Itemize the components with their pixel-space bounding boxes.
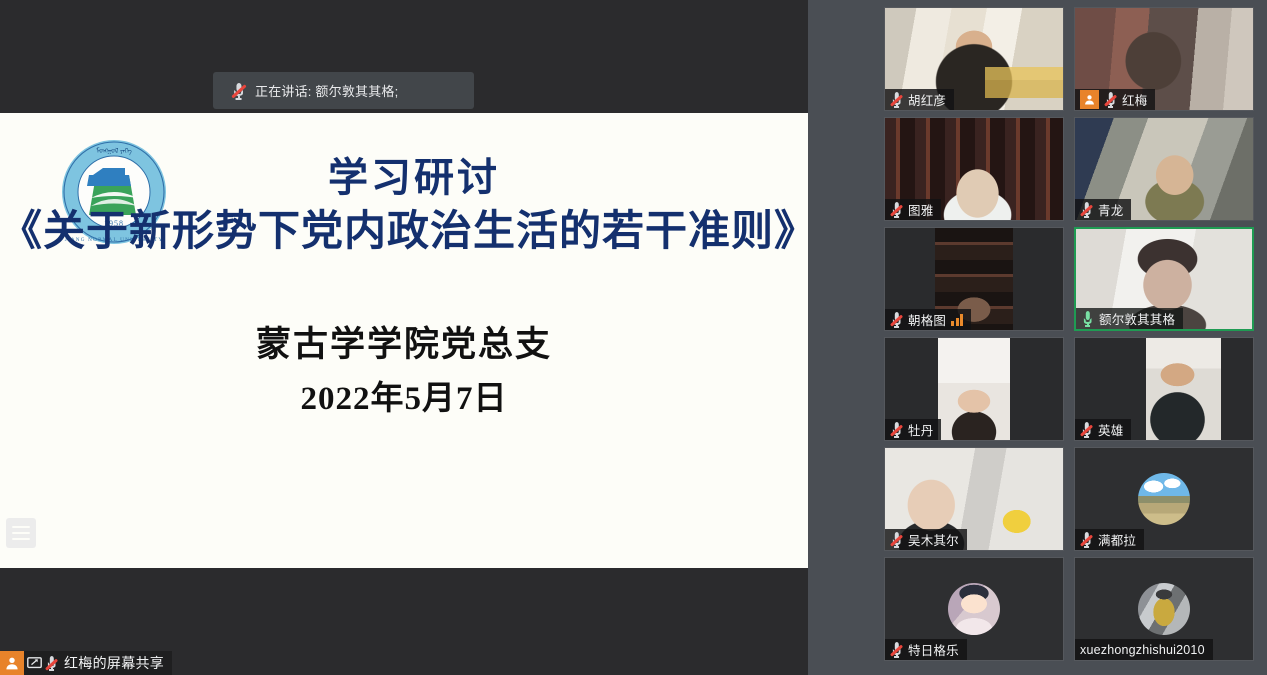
slide-title-line2: 《关于新形势下党内政治生活的若干准则》 — [0, 204, 808, 260]
participant-name: 额尔敦其其格 — [1099, 309, 1175, 328]
participant-label: 吴木其尔 — [885, 529, 967, 550]
meeting-window: 正在讲话: 额尔敦其其格; 1958 ᠮᠣᠩᠭᠣᠯ ᠶᠡᠬᠡ JIANG N — [0, 0, 1267, 675]
screen-share-label: 红梅的屏幕共享 — [62, 653, 164, 673]
participant-tile[interactable]: 胡红彦 — [884, 7, 1064, 111]
participant-tile[interactable]: 特日格乐 — [884, 557, 1064, 661]
participant-tile[interactable]: 牡丹 — [884, 337, 1064, 441]
participant-label: 图雅 — [885, 199, 941, 220]
participant-label: 胡红彦 — [885, 89, 954, 110]
screen-share-status-bar: 红梅的屏幕共享 — [0, 651, 172, 675]
host-person-icon — [1080, 90, 1099, 109]
participant-tile[interactable]: 红梅 — [1074, 7, 1254, 111]
slide-subtitle-date: 2022年5月7日 — [0, 371, 808, 419]
mic-muted-icon — [1080, 421, 1093, 438]
mic-muted-icon — [1104, 91, 1117, 108]
participant-tile[interactable]: 吴木其尔 — [884, 447, 1064, 551]
active-speaker-label: 正在讲话: 额尔敦其其格; — [255, 81, 398, 100]
participant-label: 英雄 — [1075, 419, 1131, 440]
mic-muted-icon — [890, 531, 903, 548]
mic-muted-icon — [231, 81, 246, 100]
signal-bars-icon — [951, 314, 963, 326]
shared-screen-stage[interactable]: 正在讲话: 额尔敦其其格; 1958 ᠮᠣᠩᠭᠣᠯ ᠶᠡᠬᠡ JIANG N — [0, 0, 808, 675]
participant-label: 额尔敦其其格 — [1076, 308, 1183, 329]
list-lines-icon[interactable] — [6, 518, 36, 548]
participant-tile-active-speaker[interactable]: 额尔敦其其格 — [1074, 227, 1254, 331]
participant-name: 图雅 — [908, 200, 933, 219]
participant-name: 英雄 — [1098, 420, 1123, 439]
participant-tile[interactable]: 满都拉 — [1074, 447, 1254, 551]
mic-muted-icon — [1080, 201, 1093, 218]
participant-grid: 胡红彦 红梅 — [808, 7, 1267, 661]
mic-muted-icon — [890, 91, 903, 108]
mic-unmuted-icon — [1081, 310, 1094, 327]
slide-title-line1: 学习研讨 — [0, 152, 808, 204]
screen-share-icon — [24, 651, 44, 675]
participant-label: 牡丹 — [885, 419, 941, 440]
participant-label: 青龙 — [1075, 199, 1131, 220]
slide-subtitle-org: 蒙古学学院党总支 — [0, 316, 808, 367]
participant-label: xuezhongzhishui2010 — [1075, 639, 1213, 660]
participant-name: 吴木其尔 — [908, 530, 959, 549]
participant-name: 牡丹 — [908, 420, 933, 439]
participant-name: 满都拉 — [1098, 530, 1136, 549]
slide-title: 学习研讨 《关于新形势下党内政治生活的若干准则》 — [0, 152, 808, 260]
participant-name: 朝格图 — [908, 310, 946, 329]
participant-name: 胡红彦 — [908, 90, 946, 109]
participant-tile[interactable]: 朝格图 — [884, 227, 1064, 331]
mic-muted-icon — [890, 311, 903, 328]
participant-label: 满都拉 — [1075, 529, 1144, 550]
participant-tile[interactable]: 青龙 — [1074, 117, 1254, 221]
participant-filmstrip[interactable]: 胡红彦 红梅 — [808, 0, 1267, 675]
mic-muted-icon — [890, 201, 903, 218]
participant-name: 特日格乐 — [908, 640, 959, 659]
participant-name: xuezhongzhishui2010 — [1080, 643, 1205, 657]
participant-tile[interactable]: 图雅 — [884, 117, 1064, 221]
host-person-icon — [0, 651, 24, 675]
active-speaker-toast: 正在讲话: 额尔敦其其格; — [213, 72, 474, 109]
participant-label: 特日格乐 — [885, 639, 967, 660]
participant-name: 红梅 — [1122, 90, 1147, 109]
avatar — [1138, 473, 1190, 525]
participant-label: 朝格图 — [885, 309, 971, 330]
participant-label: 红梅 — [1075, 89, 1155, 110]
participant-tile[interactable]: 英雄 — [1074, 337, 1254, 441]
mic-muted-icon — [45, 655, 58, 672]
mic-muted-icon — [890, 421, 903, 438]
mic-muted-icon — [890, 641, 903, 658]
participant-name: 青龙 — [1098, 200, 1123, 219]
participant-tile[interactable]: xuezhongzhishui2010 — [1074, 557, 1254, 661]
mic-muted-icon — [1080, 531, 1093, 548]
avatar — [1138, 583, 1190, 635]
avatar — [948, 583, 1000, 635]
